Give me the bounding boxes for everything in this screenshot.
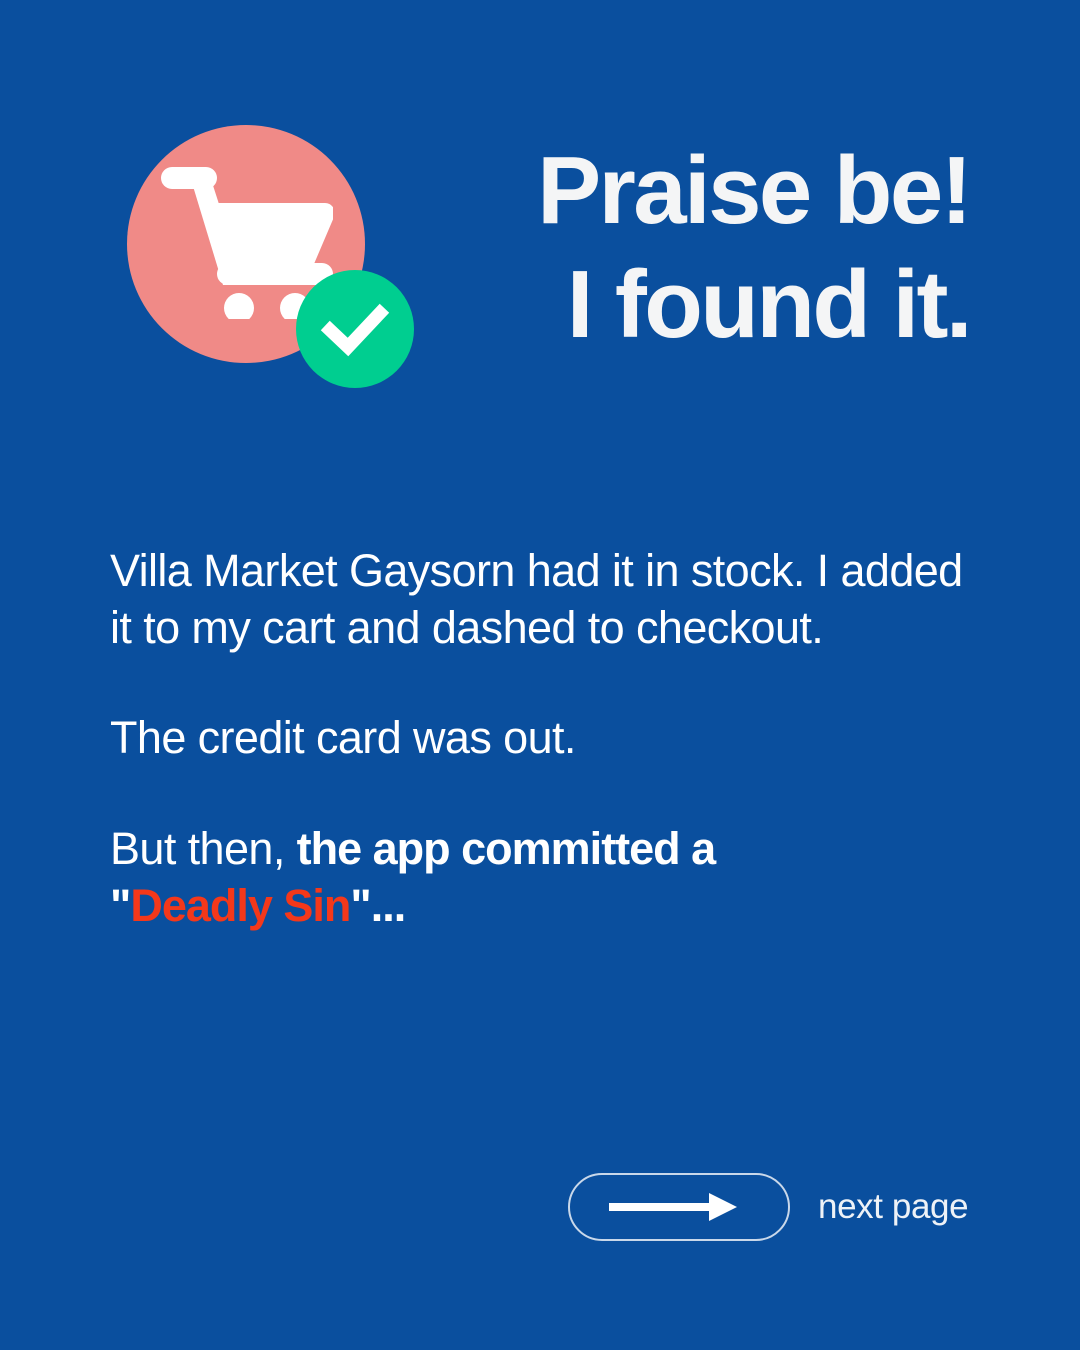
- headline-line-2: I found it.: [330, 248, 970, 362]
- headline-line-1: Praise be!: [330, 134, 970, 248]
- paragraph-credit-card: The credit card was out.: [110, 710, 970, 767]
- paragraph-deadly-sin: But then, the app committed a "Deadly Si…: [110, 821, 870, 934]
- next-page-label: next page: [818, 1187, 968, 1227]
- paragraph-stock: Villa Market Gaysorn had it in stock. I …: [110, 543, 970, 656]
- next-page-button[interactable]: [568, 1173, 790, 1241]
- deadly-sin-highlight: Deadly Sin: [130, 880, 350, 931]
- next-page-control[interactable]: next page: [568, 1173, 968, 1241]
- page-title: Praise be! I found it.: [330, 134, 970, 362]
- hero-section: Praise be! I found it.: [0, 0, 1080, 440]
- deadly-sin-bold: the app committed a: [297, 823, 716, 874]
- arrow-right-icon: [609, 1187, 749, 1227]
- deadly-sin-ellipsis: ...: [371, 880, 406, 931]
- body-copy: Villa Market Gaysorn had it in stock. I …: [110, 543, 970, 934]
- deadly-sin-lead: But then,: [110, 823, 297, 874]
- deadly-sin-close-quote: ": [350, 880, 370, 931]
- deadly-sin-open-quote: ": [110, 880, 130, 931]
